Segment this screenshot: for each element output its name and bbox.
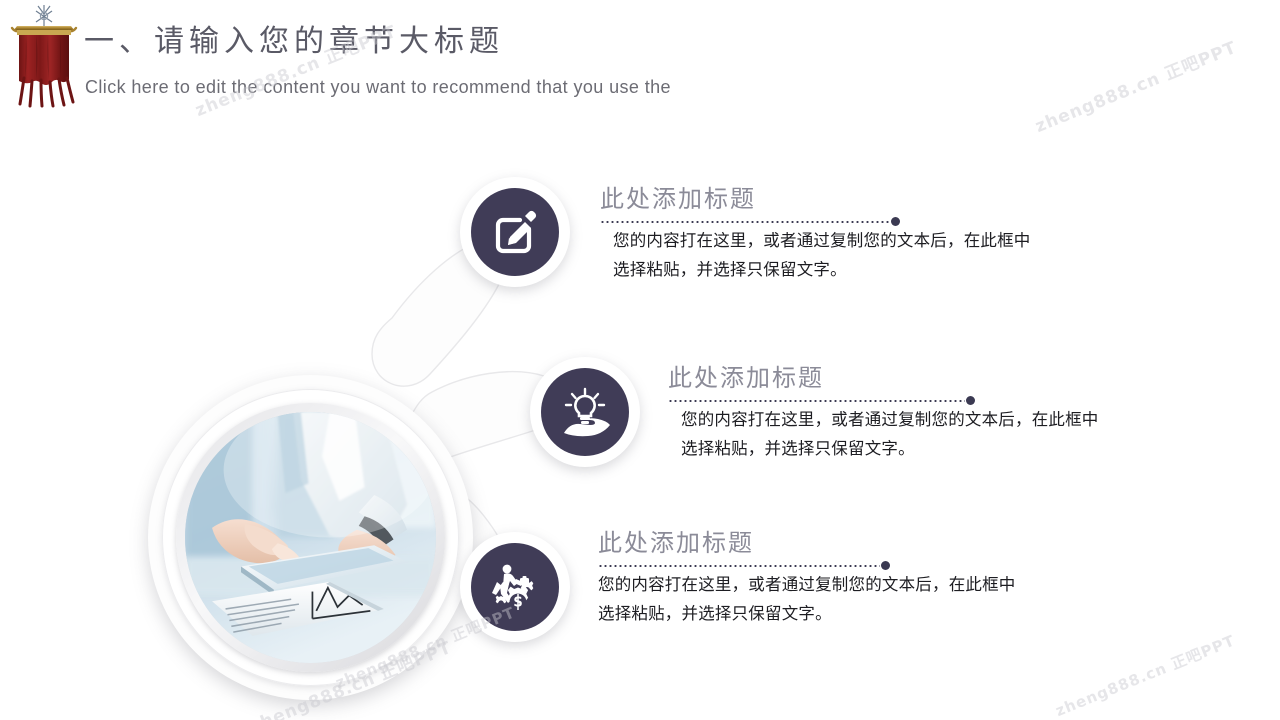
rule-end-dot xyxy=(891,217,900,226)
dotted-line xyxy=(598,565,880,567)
rule-end-dot xyxy=(881,561,890,570)
slide-canvas: 一、请输入您的章节大标题 Click here to edit the cont… xyxy=(0,0,1280,720)
photo-ring-inner xyxy=(162,389,459,686)
businessman-gears-dollar-icon: S xyxy=(471,543,559,631)
edit-pencil-icon xyxy=(471,188,559,276)
item-body-line-2: 选择粘贴，并选择只保留文字。 xyxy=(600,256,900,285)
page-title: 一、请输入您的章节大标题 xyxy=(84,24,504,60)
item-body-line-1: 您的内容打在这里，或者通过复制您的文本后，在此框中 xyxy=(668,406,975,435)
item-text-2: 此处添加标题 您的内容打在这里，或者通过复制您的文本后，在此框中 选择粘贴，并选… xyxy=(668,363,975,464)
page-subtitle: Click here to edit the content you want … xyxy=(85,73,671,101)
rule-end-dot xyxy=(966,396,975,405)
dotted-rule xyxy=(668,396,975,406)
photo-ring-bevel xyxy=(176,403,445,672)
item-body-line-2: 选择粘贴，并选择只保留文字。 xyxy=(668,435,975,464)
dotted-line xyxy=(668,400,965,402)
slide-header: 一、请输入您的章节大标题 Click here to edit the cont… xyxy=(0,0,1280,118)
item-text-3: 此处添加标题 您的内容打在这里，或者通过复制您的文本后，在此框中 选择粘贴，并选… xyxy=(598,528,890,629)
item-body-line-1: 您的内容打在这里，或者通过复制您的文本后，在此框中 xyxy=(600,227,900,256)
dotted-rule xyxy=(598,561,890,571)
item-heading: 此处添加标题 xyxy=(668,363,975,393)
hand-lightbulb-icon xyxy=(541,368,629,456)
item-heading: 此处添加标题 xyxy=(598,528,890,558)
icon-node-2[interactable] xyxy=(530,357,640,467)
item-body-line-1: 您的内容打在这里，或者通过复制您的文本后，在此框中 xyxy=(598,571,890,600)
icon-node-3[interactable]: S xyxy=(460,532,570,642)
chinese-banner-icon xyxy=(8,2,80,110)
diagram-area: S 此处添加标题 您的内容打在这里，或者通过复制您的文本后，在此框中 选择粘贴，… xyxy=(0,120,1280,720)
item-heading: 此处添加标题 xyxy=(600,184,900,214)
dotted-line xyxy=(600,221,890,223)
item-body-line-2: 选择粘贴，并选择只保留文字。 xyxy=(598,600,890,629)
icon-node-1[interactable] xyxy=(460,177,570,287)
item-text-1: 此处添加标题 您的内容打在这里，或者通过复制您的文本后，在此框中 选择粘贴，并选… xyxy=(600,184,900,285)
center-photo xyxy=(185,412,436,663)
dotted-rule xyxy=(600,217,900,227)
center-photo-frame xyxy=(148,375,473,700)
